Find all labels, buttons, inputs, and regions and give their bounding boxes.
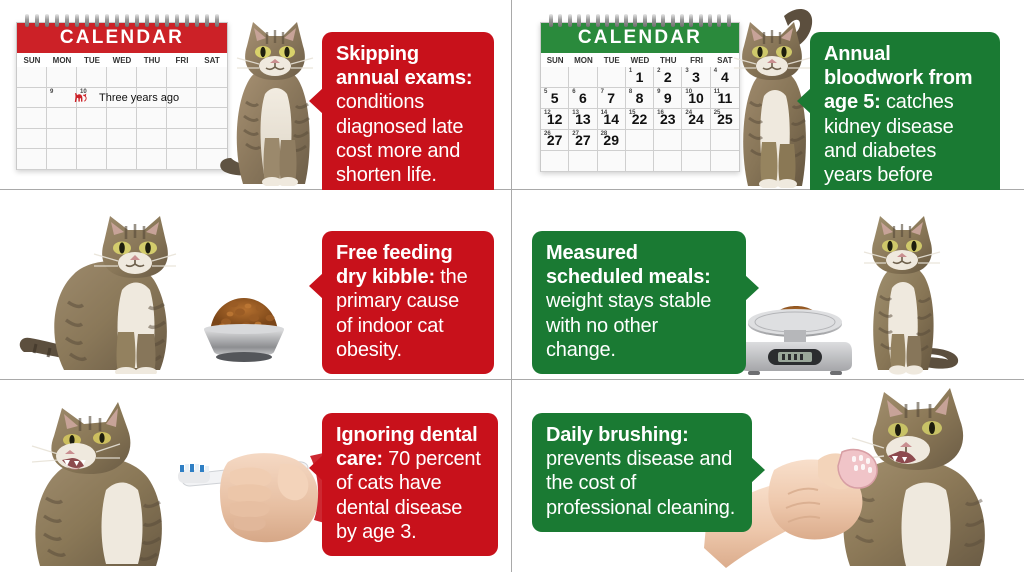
calendar-day-cell[interactable] (77, 108, 107, 129)
panel-free-feeding-dry-kibble: Free feeding dry kibble: the primary cau… (0, 190, 512, 380)
calendar-day-cell[interactable]: 1414 (598, 109, 626, 130)
callout-body: weight stays stable with no other change… (546, 290, 711, 360)
weekday-wed: WED (626, 56, 654, 65)
calendar-day-cell[interactable] (77, 149, 107, 170)
callout-tail (309, 455, 323, 481)
calendar-day-cell[interactable]: 2627 (541, 130, 569, 151)
calendar-day-cell[interactable] (137, 149, 167, 170)
callout-free-feeding: Free feeding dry kibble: the primary cau… (322, 231, 494, 374)
calendar-day-superscript: 24 (685, 110, 692, 116)
calendar-weekday-row: SUN MON TUE WED THU FRI SAT (17, 53, 227, 67)
callout-measured-meals: Measured scheduled meals: weight stays s… (532, 231, 746, 374)
calendar-day-cell[interactable] (682, 130, 710, 151)
calendar-day-number: 9 (664, 91, 672, 105)
photo-cat-overweight (18, 198, 204, 374)
calendar-day-number: 2 (664, 70, 672, 84)
calendar-day-cell[interactable] (682, 151, 710, 172)
calendar-day-superscript: 12 (544, 110, 551, 116)
photo-full-kibble-bowl (196, 288, 292, 369)
calendar-day-cell[interactable] (47, 129, 77, 150)
calendar-weekday-row: SUN MON TUE WED THU FRI SAT (541, 53, 739, 67)
calendar-day-cell[interactable]: 1010 (682, 88, 710, 109)
panel-skipping-annual-exams: CALENDAR SUN MON TUE WED THU FRI SAT 910… (0, 0, 512, 190)
calendar-day-superscript: 9 (657, 89, 660, 95)
calendar-day-cell[interactable]: 66 (569, 88, 597, 109)
calendar-day-superscript: 15 (629, 110, 636, 116)
calendar-day-superscript: 5 (544, 89, 547, 95)
callout-lead: Skipping annual exams: (336, 43, 472, 89)
calendar-day-superscript: 2 (657, 68, 660, 74)
callout-ignoring-dental-care: Ignoring dental care: 70 percent of cats… (322, 413, 498, 556)
calendar-day-cell[interactable] (17, 108, 47, 129)
callout-tail (745, 275, 759, 301)
calendar-day-cell[interactable]: 55 (541, 88, 569, 109)
calendar-day-cell[interactable] (598, 151, 626, 172)
calendar-title: CALENDAR (541, 23, 739, 53)
calendar-note: Three years ago (99, 92, 179, 104)
calendar-day-cell[interactable] (17, 88, 47, 109)
calendar-day-cell[interactable]: 88 (626, 88, 654, 109)
weekday-fri: FRI (682, 56, 710, 65)
calendar-day-grid: 1122334455667788991010111112121313141415… (541, 67, 739, 172)
calendar-day-cell[interactable] (598, 67, 626, 88)
panel-measured-scheduled-meals: Measured scheduled meals: weight stays s… (512, 190, 1024, 380)
calendar-day-cell[interactable] (47, 108, 77, 129)
callout-lead: Daily brushing: (546, 424, 689, 446)
callout-tail (797, 88, 811, 114)
calendar-day-number: 1 (636, 70, 644, 84)
calendar-day-cell[interactable]: 2424 (682, 109, 710, 130)
calendar-day-cell[interactable]: 2727 (569, 130, 597, 151)
calendar-day-superscript: 27 (572, 131, 579, 137)
callout-annual-bloodwork: Annual bloodwork from age 5: catches kid… (810, 32, 1000, 190)
calendar-day-cell[interactable] (167, 129, 197, 150)
panel-ignoring-dental-care: Ignoring dental care: 70 percent of cats… (0, 380, 512, 572)
calendar-day-cell[interactable] (77, 67, 107, 88)
calendar-day-cell[interactable] (654, 130, 682, 151)
calendar-day-cell[interactable] (137, 108, 167, 129)
weekday-mon: MON (47, 56, 77, 65)
callout-skipping-annual-exams: Skipping annual exams: conditions diagno… (322, 32, 494, 190)
calendar-day-superscript: 26 (544, 131, 551, 137)
calendar-red: CALENDAR SUN MON TUE WED THU FRI SAT 910… (16, 22, 228, 170)
calendar-day-superscript: 6 (572, 89, 575, 95)
calendar-day-grid: 910 (17, 67, 227, 170)
calendar-day-superscript: 8 (629, 89, 632, 95)
calendar-day-cell[interactable]: 99 (654, 88, 682, 109)
calendar-day-superscript: 3 (685, 68, 688, 74)
calendar-day-cell[interactable] (17, 129, 47, 150)
calendar-day-cell[interactable]: 1212 (541, 109, 569, 130)
weekday-thu: THU (137, 56, 167, 65)
weekday-tue: TUE (598, 56, 626, 65)
weekday-sun: SUN (541, 56, 569, 65)
panel-annual-bloodwork: CALENDAR SUN MON TUE WED THU FRI SAT 112… (512, 0, 1024, 190)
calendar-green: CALENDAR SUN MON TUE WED THU FRI SAT 112… (540, 22, 740, 172)
weekday-fri: FRI (167, 56, 197, 65)
calendar-day-superscript: 7 (601, 89, 604, 95)
weekday-mon: MON (569, 56, 597, 65)
callout-body: conditions diagnosed late cost more and … (336, 91, 463, 186)
calendar-title: CALENDAR (17, 23, 227, 53)
callout-tail (309, 88, 323, 114)
calendar-day-superscript: 16 (657, 110, 664, 116)
calendar-day-number: 5 (551, 91, 559, 105)
cat-marker-icon (73, 89, 89, 108)
calendar-day-cell[interactable] (47, 149, 77, 170)
calendar-day-cell[interactable] (569, 151, 597, 172)
calendar-spiral-binding (25, 14, 219, 27)
calendar-day-cell[interactable]: 77 (598, 88, 626, 109)
infographic-root: CALENDAR SUN MON TUE WED THU FRI SAT 910… (0, 0, 1024, 572)
weekday-tue: TUE (77, 56, 107, 65)
callout-lead: Measured scheduled meals: (546, 242, 711, 288)
calendar-day-cell[interactable]: 22 (654, 67, 682, 88)
calendar-day-cell[interactable]: 1522 (626, 109, 654, 130)
calendar-day-cell[interactable] (47, 67, 77, 88)
callout-tail (309, 273, 323, 299)
calendar-day-cell[interactable] (626, 151, 654, 172)
calendar-day-cell[interactable] (17, 149, 47, 170)
calendar-day-cell[interactable] (541, 151, 569, 172)
calendar-day-superscript: 14 (601, 110, 608, 116)
calendar-day-cell[interactable] (107, 67, 137, 88)
photo-hand-with-toothbrush (168, 420, 328, 555)
calendar-day-number: 6 (579, 91, 587, 105)
calendar-day-cell[interactable] (626, 130, 654, 151)
calendar-day-cell[interactable] (167, 149, 197, 170)
weekday-thu: THU (654, 56, 682, 65)
weekday-wed: WED (107, 56, 137, 65)
callout-tail (751, 457, 765, 483)
photo-cat-slim (842, 198, 962, 376)
calendar-day-superscript: 28 (601, 131, 608, 137)
calendar-day-cell[interactable]: 2829 (598, 130, 626, 151)
calendar-day-superscript: 10 (685, 89, 692, 95)
calendar-day-number: 7 (607, 91, 615, 105)
calendar-day-cell[interactable]: 1623 (654, 109, 682, 130)
panel-daily-brushing: Daily brushing: prevents disease and the… (512, 380, 1024, 572)
callout-body: prevents disease and the cost of profess… (546, 448, 735, 518)
calendar-day-cell[interactable] (77, 129, 107, 150)
calendar-day-cell[interactable]: 1313 (569, 109, 597, 130)
calendar-day-cell[interactable] (569, 67, 597, 88)
calendar-day-superscript: 13 (572, 110, 579, 116)
comparison-grid: CALENDAR SUN MON TUE WED THU FRI SAT 910… (0, 0, 1024, 572)
calendar-day-number: 3 (692, 70, 700, 84)
calendar-day-cell[interactable] (654, 151, 682, 172)
calendar-day-cell[interactable] (17, 67, 47, 88)
calendar-day-number: 8 (636, 91, 644, 105)
calendar-day-cell[interactable]: 11 (626, 67, 654, 88)
calendar-day-cell[interactable] (541, 67, 569, 88)
calendar-day-cell[interactable] (107, 149, 137, 170)
calendar-day-cell[interactable] (107, 129, 137, 150)
calendar-day-superscript: 1 (629, 68, 632, 74)
calendar-day-cell[interactable] (167, 67, 197, 88)
calendar-day-cell[interactable] (137, 67, 167, 88)
calendar-day-cell[interactable] (167, 108, 197, 129)
calendar-day-cell[interactable] (107, 108, 137, 129)
callout-daily-brushing: Daily brushing: prevents disease and the… (532, 413, 752, 532)
calendar-spiral-binding (549, 14, 731, 27)
weekday-sun: SUN (17, 56, 47, 65)
calendar-day-superscript: 9 (50, 89, 53, 95)
photo-digital-kitchen-scale (734, 294, 856, 380)
calendar-day-cell[interactable]: 33 (682, 67, 710, 88)
calendar-day-cell[interactable] (137, 129, 167, 150)
